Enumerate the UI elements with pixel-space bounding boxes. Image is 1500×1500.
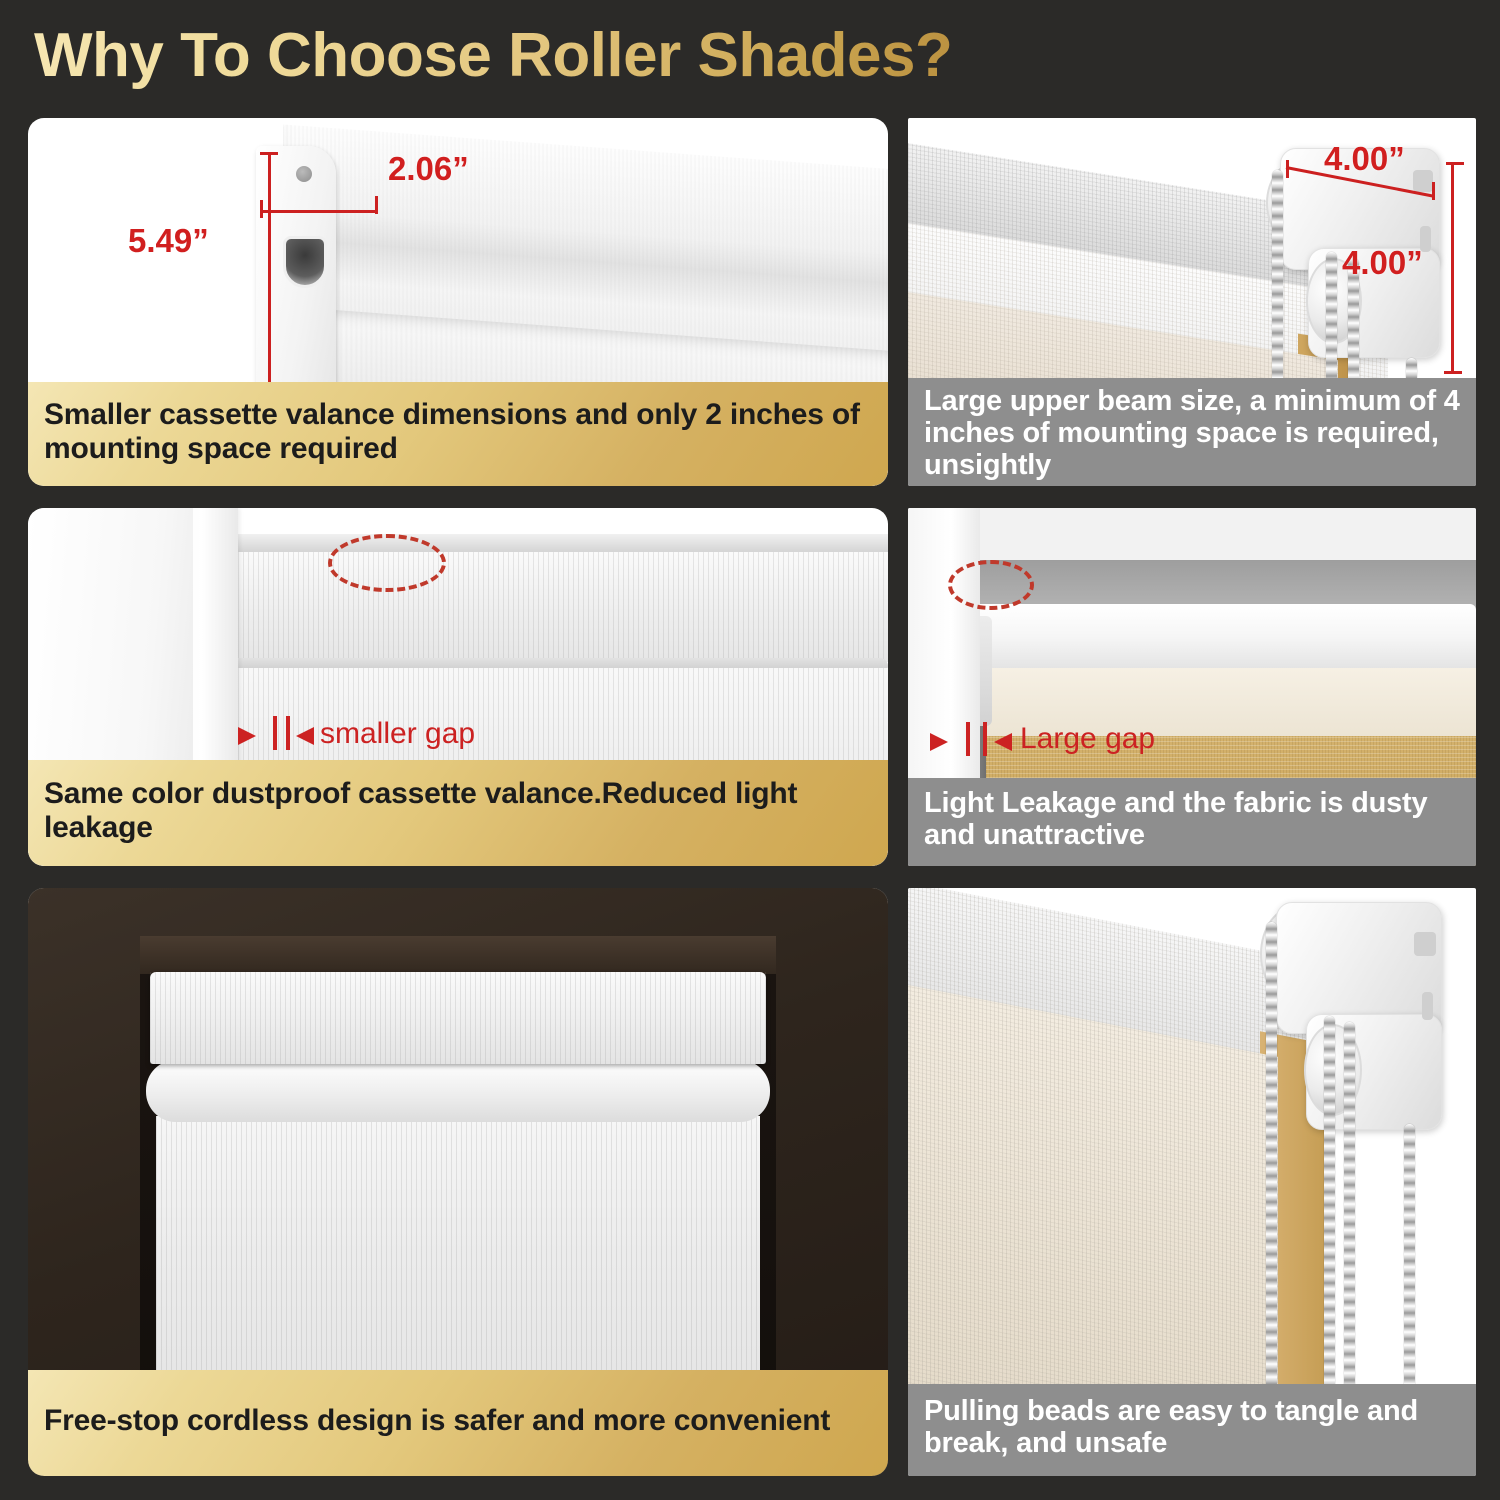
panel-mid-left: smaller gap Same color dustproof cassett… [28, 508, 888, 866]
page-title: Why To Choose Roller Shades? [34, 20, 952, 91]
width-dimension-tick-right [375, 196, 378, 214]
bracket-notch-b [1422, 992, 1433, 1020]
gap-bar-left [966, 722, 970, 756]
panel-bottom-left: Free-stop cordless design is safer and m… [28, 888, 888, 1476]
width-dimension-tick-left [260, 200, 263, 218]
gap-arrow-left [238, 727, 256, 745]
panel-top-left: 2.06” 5.49” Smaller cassette valance dim… [28, 118, 888, 486]
caption-text: Light Leakage and the fabric is dusty an… [924, 788, 1462, 852]
bracket-notch-a [1413, 170, 1433, 192]
panel-bottom-right-caption: Pulling beads are easy to tangle and bre… [908, 1384, 1476, 1476]
caption-text: Pulling beads are easy to tangle and bre… [924, 1396, 1462, 1460]
panel-mid-right-caption: Light Leakage and the fabric is dusty an… [908, 778, 1476, 866]
caption-text: Smaller cassette valance dimensions and … [44, 398, 874, 466]
roller-tube [146, 1060, 770, 1122]
gap-arrow-left [930, 733, 948, 751]
height-dimension-line [1451, 162, 1454, 374]
panel-top-right-caption: Large upper beam size, a minimum of 4 in… [908, 378, 1476, 486]
gap-arrow-right [296, 727, 314, 745]
bracket-notch-a [1414, 932, 1436, 956]
height-dimension-tick-bottom [1444, 371, 1462, 374]
gap-arrow-right [994, 733, 1012, 751]
panel-mid-left-caption: Same color dustproof cassette valance.Re… [28, 760, 888, 866]
width-dimension-label: 4.00” [1324, 140, 1405, 178]
gap-bar-right [286, 716, 290, 750]
panel-top-left-caption: Smaller cassette valance dimensions and … [28, 382, 888, 486]
gap-callout-label: smaller gap [320, 717, 475, 751]
gap-bar-right [983, 722, 987, 756]
cassette-valance [150, 972, 766, 1064]
panel-top-right: 4.00” 4.00” Large upper beam size, a min… [908, 118, 1476, 486]
height-dimension-tick-top [1446, 162, 1464, 165]
width-dimension-tick-right [1432, 182, 1435, 200]
width-dimension-line [260, 210, 378, 213]
caption-text: Free-stop cordless design is safer and m… [44, 1404, 874, 1438]
cassette-valance-head [214, 534, 888, 552]
valance-slot [283, 236, 327, 288]
height-dimension-label: 4.00” [1342, 244, 1423, 282]
shade-fabric-upper [218, 552, 888, 662]
width-dimension-tick-left [1286, 160, 1289, 178]
valance-screw-upper [296, 166, 312, 182]
panel-mid-right: Large gap Light Leakage and the fabric i… [908, 508, 1476, 866]
window-lintel [140, 936, 776, 974]
gap-bar-left [273, 716, 277, 750]
gap-callout-label: Large gap [1020, 722, 1155, 756]
highlight-ellipse [328, 534, 446, 592]
height-dimension-tick-top [260, 152, 278, 155]
height-dimension-label: 5.49” [128, 222, 209, 260]
upper-beam [970, 604, 1476, 676]
width-dimension-label: 2.06” [388, 150, 469, 188]
panel-bottom-right: Pulling beads are easy to tangle and bre… [908, 888, 1476, 1476]
caption-text: Large upper beam size, a minimum of 4 in… [924, 386, 1462, 482]
ceiling-surface [908, 508, 1476, 566]
infographic-root: Why To Choose Roller Shades? 2.06” 5.49”… [0, 0, 1500, 1500]
caption-text: Same color dustproof cassette valance.Re… [44, 777, 874, 845]
panel-bottom-left-caption: Free-stop cordless design is safer and m… [28, 1370, 888, 1476]
highlight-ellipse [948, 560, 1034, 610]
